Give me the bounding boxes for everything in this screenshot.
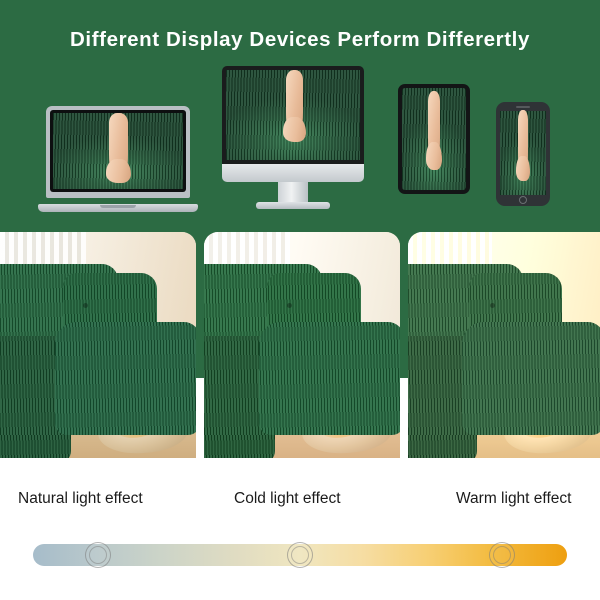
neutral-light-handle[interactable] xyxy=(287,542,313,568)
comparison-photo-cold xyxy=(204,232,400,458)
room-scene xyxy=(408,232,600,458)
tablet-bezel xyxy=(398,84,470,194)
phone-bezel xyxy=(496,102,550,206)
room-scene xyxy=(0,232,196,458)
caption-natural-light: Natural light effect xyxy=(18,490,143,508)
room-scene xyxy=(204,232,400,458)
laptop-base xyxy=(38,204,198,212)
sofa-arm xyxy=(462,322,600,435)
laptop-screen-image xyxy=(53,113,183,189)
laptop-lid xyxy=(46,106,190,198)
foot-heel xyxy=(283,117,306,142)
monitor-chin xyxy=(222,164,364,182)
desktop-monitor-icon xyxy=(222,66,364,214)
comparison-photo-natural xyxy=(0,232,196,458)
smartphone-icon xyxy=(496,102,550,206)
cushion-tuft xyxy=(490,303,495,308)
phone-screen-image xyxy=(500,111,546,195)
laptop-icon xyxy=(38,106,198,212)
tablet-icon xyxy=(398,84,470,194)
phone-home-button-icon xyxy=(519,196,527,204)
monitor-bezel xyxy=(222,66,364,164)
monitor-screen-image xyxy=(226,70,360,160)
monitor-stand-neck xyxy=(278,182,308,204)
foot-graphic xyxy=(286,70,303,141)
page-title: Different Display Devices Perform Differ… xyxy=(0,28,600,52)
cushion-tuft xyxy=(83,303,88,308)
device-showcase xyxy=(0,62,600,217)
color-temperature-slider[interactable] xyxy=(33,544,567,566)
laptop-bezel xyxy=(50,110,186,192)
sofa-arm xyxy=(55,322,196,435)
laptop-trackpad-notch xyxy=(100,205,136,208)
monitor-stand-base xyxy=(256,202,330,209)
foot-graphic xyxy=(109,113,128,181)
tablet-screen-image xyxy=(402,88,466,190)
foot-graphic xyxy=(428,91,440,168)
foot-graphic xyxy=(518,110,528,179)
phone-speaker-icon xyxy=(516,106,530,108)
cushion-tuft xyxy=(287,303,292,308)
warm-light-handle[interactable] xyxy=(489,542,515,568)
comparison-photo-warm xyxy=(408,232,600,458)
foot-heel xyxy=(106,159,131,184)
caption-warm-light: Warm light effect xyxy=(456,490,571,508)
cold-light-handle[interactable] xyxy=(85,542,111,568)
caption-cold-light: Cold light effect xyxy=(234,490,341,508)
foot-heel xyxy=(516,156,529,181)
sofa-arm xyxy=(259,322,400,435)
foot-heel xyxy=(426,142,442,170)
